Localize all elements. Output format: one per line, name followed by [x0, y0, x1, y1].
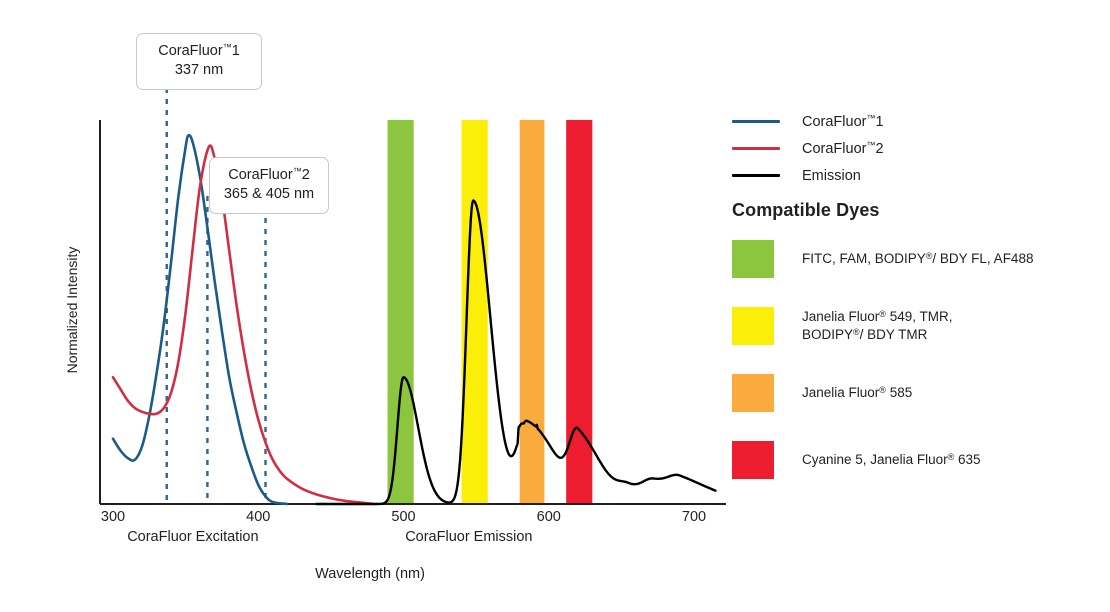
emission-band-2 [520, 120, 545, 504]
region-label-excitation: CoraFluor Excitation [83, 529, 303, 545]
region-label-emission: CoraFluor Emission [359, 529, 579, 545]
trademark-glyph: ™ [223, 42, 232, 52]
dye-label-line1: Cyanine 5, Janelia Fluor® 635 [802, 451, 981, 469]
dye-label: Janelia Fluor® 549, TMR,BODIPY®/ BDY TMR [802, 308, 952, 344]
registered-glyph: ® [879, 309, 886, 319]
curve-emission [316, 201, 715, 504]
legend-line-swatch [732, 120, 780, 123]
compatible-dyes-heading: Compatible Dyes [732, 200, 880, 221]
dye-label-line1: FITC, FAM, BODIPY®/ BDY FL, AF488 [802, 250, 1033, 268]
dye-color-swatch [732, 240, 774, 278]
x-tick-400: 400 [228, 509, 288, 525]
emission-band-1 [462, 120, 488, 504]
registered-glyph: ® [879, 385, 886, 395]
trademark-glyph: ™ [293, 166, 302, 176]
annotation-corafluor2: CoraFluor™2 365 & 405 nm [209, 157, 329, 214]
annotation-corafluor2-line1: CoraFluor™2 [222, 165, 316, 185]
dye-row-3[interactable]: Cyanine 5, Janelia Fluor® 635 [730, 435, 1110, 485]
dye-label: Cyanine 5, Janelia Fluor® 635 [802, 451, 981, 469]
dye-label-line2: BODIPY®/ BDY TMR [802, 326, 952, 344]
legend-series-row-1[interactable]: CoraFluor™2 [730, 135, 1090, 162]
series-legend: CoraFluor™1CoraFluor™2Emission [730, 108, 1090, 189]
dye-label-line1: Janelia Fluor® 549, TMR, [802, 308, 952, 326]
legend-series-row-2[interactable]: Emission [730, 162, 1090, 189]
dye-label: FITC, FAM, BODIPY®/ BDY FL, AF488 [802, 250, 1033, 268]
annotation-corafluor1-line1: CoraFluor™1 [149, 41, 249, 61]
x-axis-title: Wavelength (nm) [0, 566, 740, 582]
spectral-chart-figure: CoraFluor™1 337 nm CoraFluor™2 365 & 405… [0, 0, 1110, 612]
legend-series-row-0[interactable]: CoraFluor™1 [730, 108, 1090, 135]
legend-line-swatch [732, 147, 780, 150]
emission-band-0 [388, 120, 414, 504]
legend-series-label: CoraFluor™2 [802, 140, 884, 157]
annotation-corafluor1-line2: 337 nm [149, 61, 249, 80]
legend-panel: CoraFluor™1CoraFluor™2Emission Compatibl… [730, 0, 1110, 612]
emission-band-3 [566, 120, 592, 504]
x-tick-500: 500 [374, 509, 434, 525]
annotation-corafluor1: CoraFluor™1 337 nm [136, 33, 262, 90]
x-tick-300: 300 [83, 509, 143, 525]
dye-row-0[interactable]: FITC, FAM, BODIPY®/ BDY FL, AF488 [730, 234, 1110, 284]
x-tick-600: 600 [519, 509, 579, 525]
dye-color-swatch [732, 441, 774, 479]
compatible-dyes-list: FITC, FAM, BODIPY®/ BDY FL, AF488Janelia… [730, 234, 1110, 502]
dye-row-2[interactable]: Janelia Fluor® 585 [730, 368, 1110, 418]
dye-label-line1: Janelia Fluor® 585 [802, 384, 912, 402]
x-tick-700: 700 [664, 509, 724, 525]
dye-color-swatch [732, 374, 774, 412]
legend-series-label: CoraFluor™1 [802, 113, 884, 130]
registered-glyph: ® [853, 327, 860, 337]
dye-label: Janelia Fluor® 585 [802, 384, 912, 402]
legend-series-label: Emission [802, 168, 861, 184]
dye-row-1[interactable]: Janelia Fluor® 549, TMR,BODIPY®/ BDY TMR [730, 301, 1110, 351]
annotation-corafluor2-line2: 365 & 405 nm [222, 185, 316, 204]
legend-line-swatch [732, 174, 780, 177]
dye-color-swatch [732, 307, 774, 345]
plot-area: CoraFluor™1 337 nm CoraFluor™2 365 & 405… [0, 0, 740, 612]
y-axis-title: Normalized Intensity [64, 220, 80, 400]
